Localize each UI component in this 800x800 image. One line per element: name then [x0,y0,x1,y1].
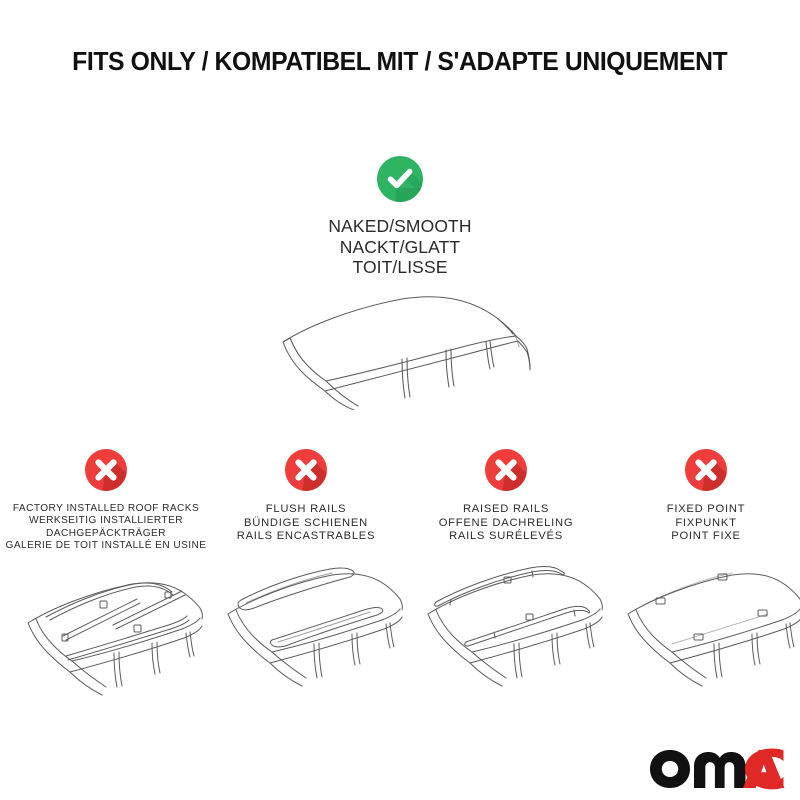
car-roof-raised-rails-illustration [406,552,606,687]
label-line-1: FACTORY INSTALLED ROOF RACKS [6,503,207,515]
page-title-bar: FITS ONLY / KOMPATIBEL MIT / S'ADAPTE UN… [0,48,800,77]
incompatible-section: FACTORY INSTALLED ROOF RACKS WERKSEITIG … [0,448,800,696]
label-line-1: FLUSH RAILS [237,503,375,517]
label-line-1: FIXED POINT [667,503,746,517]
car-roof-factory-roof-racks-illustration [6,561,206,696]
omac-logo [648,748,788,790]
compatible-label-line-3: TOIT/LISSE [328,257,471,278]
label-line-4: GALERIE DE TOIT INSTALLÉ EN USINE [6,540,207,552]
label-line-1: RAISED RAILS [439,503,574,517]
label-line-3: POINT FIXE [667,530,746,544]
label-line-2: BÜNDIGE SCHIENEN [237,517,375,531]
incompatible-item-flush-rails: FLUSH RAILS BÜNDIGE SCHIENEN RAILS ENCAS… [206,448,406,687]
incompatible-item-raised-rails: RAISED RAILS OFFENE DACHRELING RAILS SUR… [406,448,606,687]
incompatible-label-fixed-point: FIXED POINT FIXPUNKT POINT FIXE [667,503,746,544]
incompatible-label-flush-rails: FLUSH RAILS BÜNDIGE SCHIENEN RAILS ENCAS… [237,503,375,544]
label-line-3: RAILS SURÉLEVÉS [439,530,574,544]
compatible-section: NAKED/SMOOTH NACKT/GLATT TOIT/LISSE [0,155,800,410]
car-roof-flush-rails-illustration [206,552,406,687]
incompatible-item-fixed-point: FIXED POINT FIXPUNKT POINT FIXE [606,448,800,687]
x-circle-icon [84,448,128,492]
x-circle-icon [684,448,728,492]
label-line-3: DACHGEPÄCKTRÄGER [6,528,207,540]
label-line-2: FIXPUNKT [667,517,746,531]
check-circle-icon [376,155,424,203]
compatible-label-line-1: NAKED/SMOOTH [328,216,471,237]
incompatible-label-factory-roof-racks: FACTORY INSTALLED ROOF RACKS WERKSEITIG … [6,503,207,553]
compatible-label: NAKED/SMOOTH NACKT/GLATT TOIT/LISSE [328,216,471,278]
label-line-2: WERKSEITIG INSTALLIERTER [6,515,207,527]
incompatible-label-raised-rails: RAISED RAILS OFFENE DACHRELING RAILS SUR… [439,503,574,544]
compatible-label-line-2: NACKT/GLATT [328,237,471,258]
page-title: FITS ONLY / KOMPATIBEL MIT / S'ADAPTE UN… [72,48,727,77]
x-circle-icon [284,448,328,492]
incompatible-item-factory-roof-racks: FACTORY INSTALLED ROOF RACKS WERKSEITIG … [6,448,206,696]
label-line-3: RAILS ENCASTRABLES [237,530,375,544]
x-circle-icon [484,448,528,492]
car-roof-fixed-point-illustration [606,552,800,687]
car-roof-naked-smooth-illustration [250,290,550,410]
label-line-2: OFFENE DACHRELING [439,517,574,531]
